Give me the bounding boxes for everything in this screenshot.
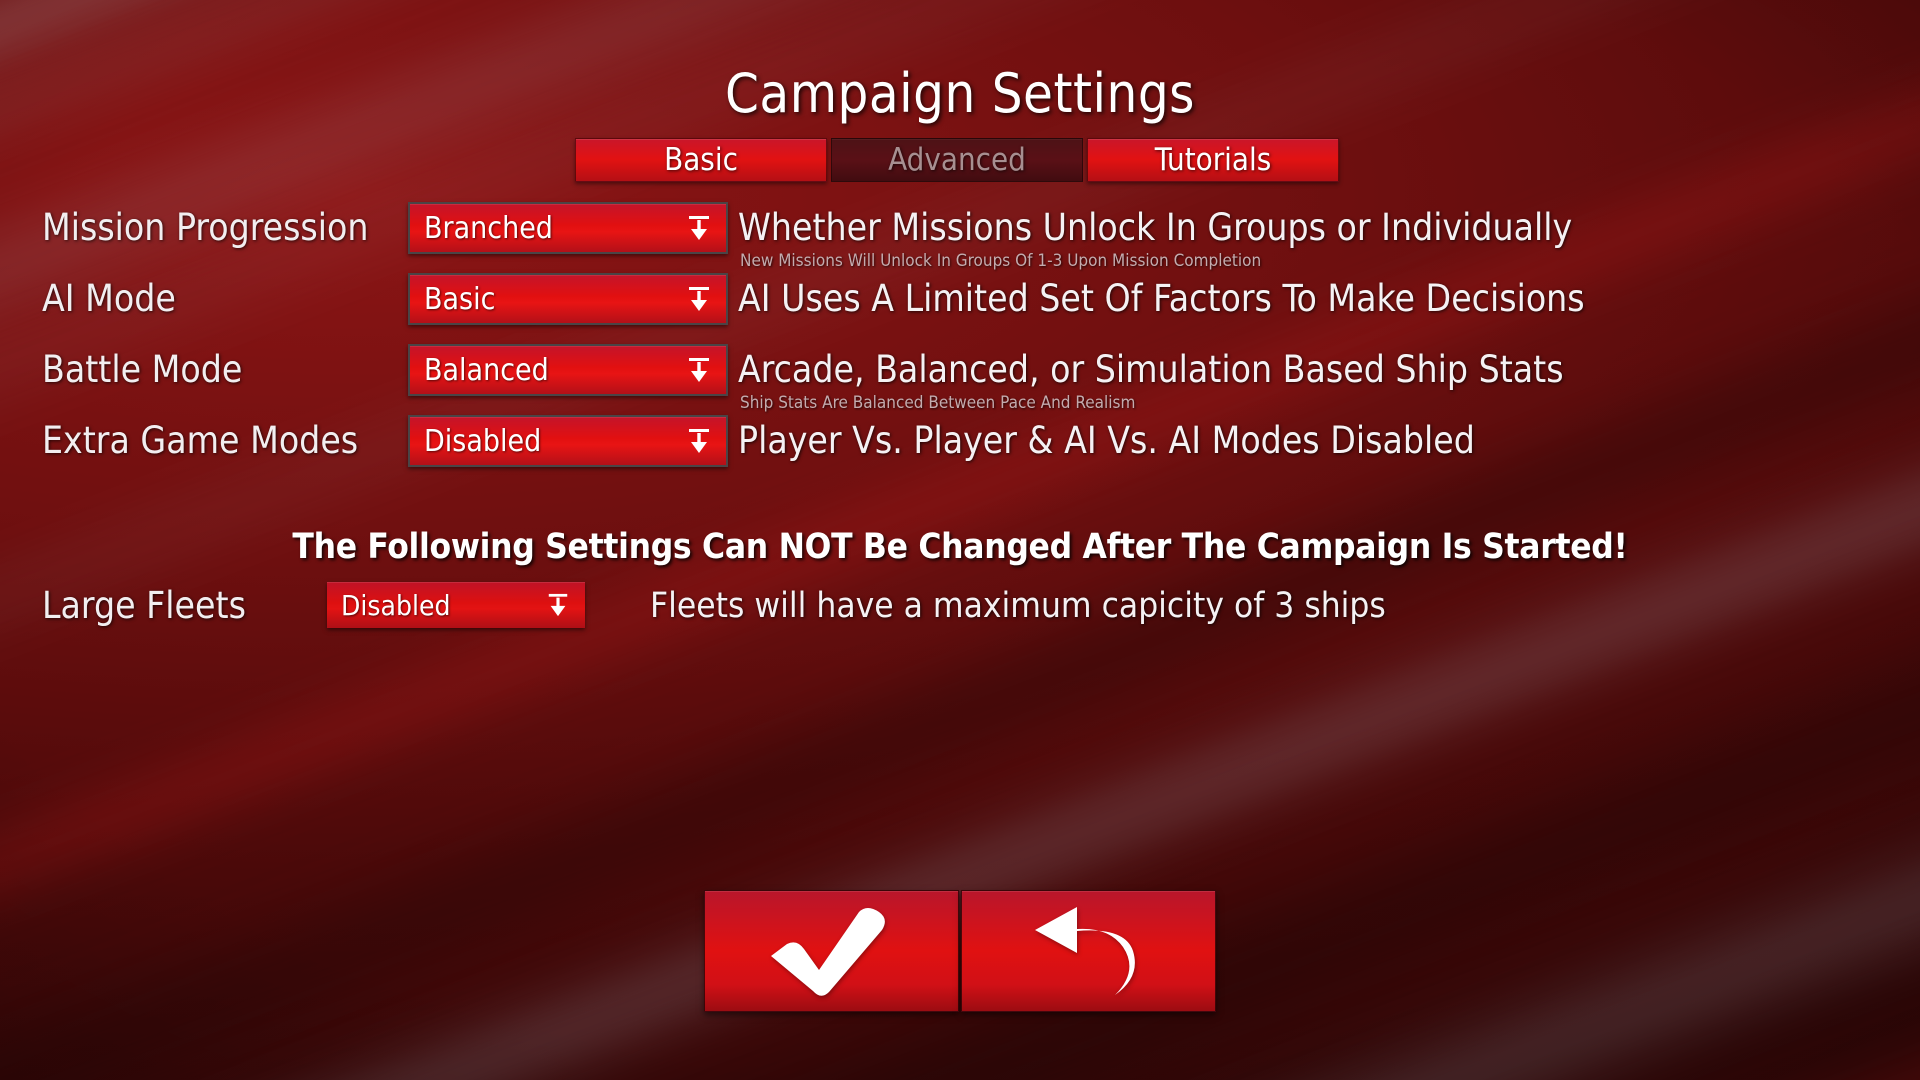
tab-advanced-label: Advanced — [888, 142, 1026, 178]
setting-description-mission-progression: Whether Missions Unlock In Groups or Ind… — [738, 200, 1572, 256]
setting-row-large-fleets: Large Fleets Disabled Fleets will have a… — [0, 578, 1920, 649]
dropdown-large-fleets[interactable]: Disabled — [327, 582, 585, 628]
locked-settings-list: Large Fleets Disabled Fleets will have a… — [0, 578, 1920, 649]
back-button[interactable] — [961, 890, 1216, 1012]
dropdown-arrow-icon — [531, 582, 585, 628]
setting-label-battle-mode: Battle Mode — [42, 342, 412, 398]
dropdown-value-battle-mode: Balanced — [410, 353, 672, 388]
setting-subtext-mission-progression: New Missions Will Unlock In Groups Of 1-… — [740, 251, 1261, 271]
page-title: Campaign Settings — [0, 62, 1920, 125]
dropdown-value-large-fleets: Disabled — [327, 589, 531, 622]
tab-basic[interactable]: Basic — [575, 138, 827, 182]
tab-tutorials-label: Tutorials — [1155, 142, 1272, 178]
setting-row-ai-mode: AI Mode Basic AI Uses A Limited Set Of F… — [0, 271, 1920, 342]
dropdown-arrow-icon — [672, 346, 726, 394]
back-arrow-icon — [1029, 903, 1149, 999]
dropdown-arrow-icon — [672, 275, 726, 323]
setting-description-ai-mode: AI Uses A Limited Set Of Factors To Make… — [738, 271, 1585, 327]
setting-description-battle-mode: Arcade, Balanced, or Simulation Based Sh… — [738, 342, 1564, 398]
setting-label-mission-progression: Mission Progression — [42, 200, 412, 256]
tab-tutorials[interactable]: Tutorials — [1087, 138, 1339, 182]
dropdown-arrow-icon — [672, 204, 726, 252]
dropdown-value-extra-game-modes: Disabled — [410, 424, 672, 459]
dropdown-battle-mode[interactable]: Balanced — [408, 344, 728, 396]
tab-basic-label: Basic — [664, 142, 738, 178]
checkmark-icon — [767, 906, 897, 996]
settings-list: Mission Progression Branched Whether Mis… — [0, 200, 1920, 484]
setting-description-large-fleets: Fleets will have a maximum capicity of 3… — [650, 578, 1386, 634]
locked-settings-warning: The Following Settings Can NOT Be Change… — [0, 527, 1920, 567]
dropdown-extra-game-modes[interactable]: Disabled — [408, 415, 728, 467]
setting-subtext-battle-mode: Ship Stats Are Balanced Between Pace And… — [740, 393, 1135, 413]
confirm-button[interactable] — [704, 890, 959, 1012]
setting-row-mission-progression: Mission Progression Branched Whether Mis… — [0, 200, 1920, 271]
setting-description-extra-game-modes: Player Vs. Player & AI Vs. AI Modes Disa… — [738, 413, 1475, 469]
dropdown-ai-mode[interactable]: Basic — [408, 273, 728, 325]
tab-advanced[interactable]: Advanced — [831, 138, 1083, 182]
settings-tab-bar: Basic Advanced Tutorials — [575, 138, 1339, 182]
dropdown-value-ai-mode: Basic — [410, 282, 672, 317]
dropdown-mission-progression[interactable]: Branched — [408, 202, 728, 254]
game-screen: Campaign Settings Basic Advanced Tutoria… — [0, 0, 1920, 1080]
setting-row-extra-game-modes: Extra Game Modes Disabled Player Vs. Pla… — [0, 413, 1920, 484]
action-button-bar — [704, 890, 1216, 1012]
setting-label-extra-game-modes: Extra Game Modes — [42, 413, 412, 469]
setting-row-battle-mode: Battle Mode Balanced Arcade, Balanced, o… — [0, 342, 1920, 413]
setting-label-ai-mode: AI Mode — [42, 271, 412, 327]
dropdown-value-mission-progression: Branched — [410, 211, 672, 246]
dropdown-arrow-icon — [672, 417, 726, 465]
